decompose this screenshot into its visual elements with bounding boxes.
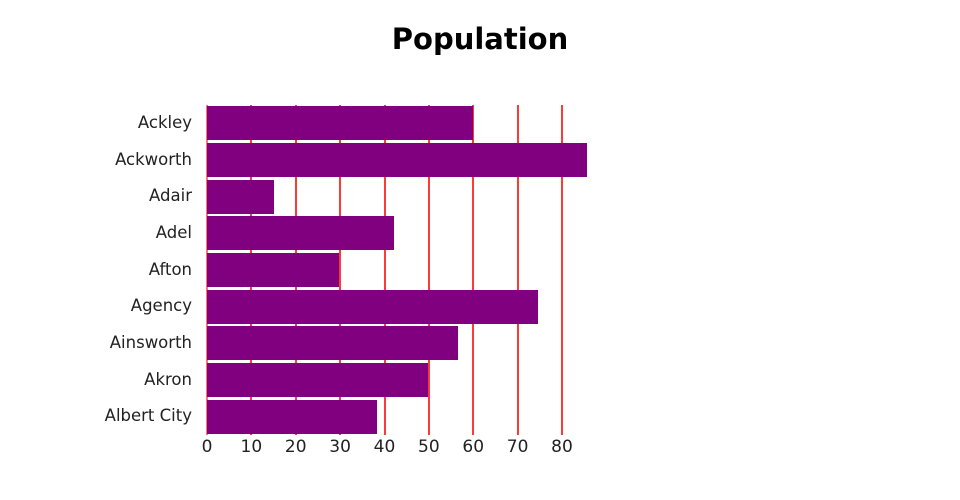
bar-row [207,325,562,362]
bar-row [207,398,562,435]
x-tick-label-70: 70 [507,437,529,457]
bar-ackley[interactable] [207,106,473,140]
x-tick-label-40: 40 [374,437,396,457]
x-tick-label-20: 20 [285,437,307,457]
x-tick-label-80: 80 [551,437,573,457]
x-tick-label-30: 30 [329,437,351,457]
bar-ackworth[interactable] [207,143,587,177]
bar-row [207,288,562,325]
bar-afton[interactable] [207,253,339,287]
y-tick-label-adair: Adair [0,178,192,215]
y-axis-tick-labels: AckleyAckworthAdairAdelAftonAgencyAinswo… [0,105,200,435]
y-tick-label-afton: Afton [0,252,192,289]
y-tick-label-akron: Akron [0,362,192,399]
y-tick-label-albert-city: Albert City [0,398,192,435]
bar-row [207,142,562,179]
bar-adel[interactable] [207,216,394,250]
bar-akron[interactable] [207,363,428,397]
bar-adair[interactable] [207,180,274,214]
bar-row [207,215,562,252]
x-tick-label-10: 10 [241,437,263,457]
plot-area [207,105,562,435]
x-tick-label-50: 50 [418,437,440,457]
x-axis-tick-labels: 01020304050607080 [207,437,607,463]
bar-albert-city[interactable] [207,400,377,434]
bar-series [207,105,562,435]
bar-agency[interactable] [207,290,538,324]
bar-row [207,252,562,289]
y-tick-label-ainsworth: Ainsworth [0,325,192,362]
x-tick-label-0: 0 [202,437,213,457]
chart-figure: Population AckleyAckworthAdairAdelAftonA… [0,0,960,500]
bar-row [207,362,562,399]
y-tick-label-ackworth: Ackworth [0,142,192,179]
y-tick-label-agency: Agency [0,288,192,325]
y-tick-label-ackley: Ackley [0,105,192,142]
bar-row [207,105,562,142]
bar-ainsworth[interactable] [207,326,458,360]
x-tick-label-60: 60 [462,437,484,457]
y-tick-label-adel: Adel [0,215,192,252]
chart-title: Population [0,22,960,56]
bar-row [207,178,562,215]
